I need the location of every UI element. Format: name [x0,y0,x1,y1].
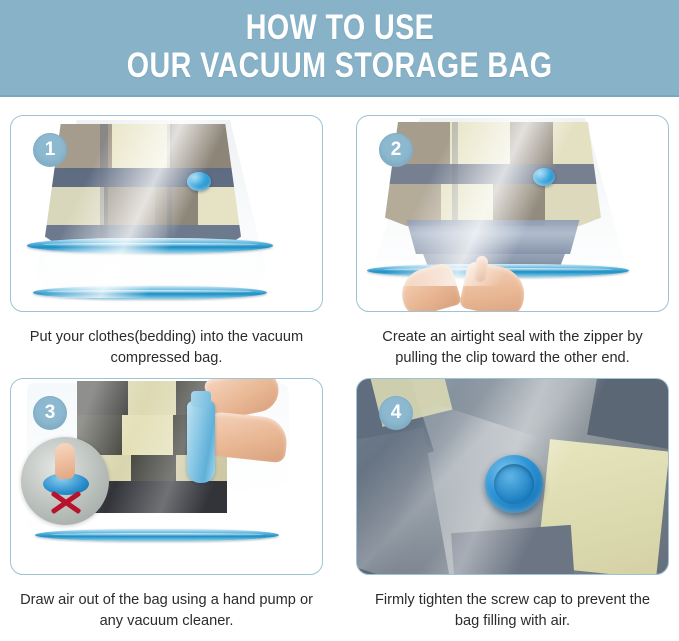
zipper-seal-lower [33,286,267,299]
step-caption-2: Create an airtight seal with the zipper … [356,327,669,368]
pump-nozzle [191,391,211,407]
step-caption-4: Firmly tighten the screw cap to prevent … [356,590,669,631]
step-panel-3: 3 [10,378,323,575]
air-valve-cap [533,168,555,186]
do-not-press-valve-inset [21,437,109,525]
step-cell-1: 1 [10,115,323,378]
step-panel-2: 2 [356,115,669,312]
page-title-line-1: HOW TO USE [245,10,434,47]
folded-fabric-layer-2 [409,244,579,266]
step-cell-4: 4 Firmly tighten the screw cap to preven… [356,378,669,641]
steps-grid: 1 [0,97,679,641]
zipper-seal-upper [27,238,273,253]
page-header: HOW TO USE OUR VACUUM STORAGE BAG [0,0,679,97]
plaid-bedding [385,122,601,226]
step-panel-1: 1 [10,115,323,312]
red-x-warning-icon [49,487,83,517]
step-panel-4: 4 [356,378,669,575]
fabric-patch-gray-bottom [451,525,575,574]
hand-pump [187,401,215,483]
air-valve-cap [187,172,211,191]
step-badge-3: 3 [33,396,67,430]
page-title-line-2: OUR VACUUM STORAGE BAG [127,48,553,85]
blue-screw-cap [485,455,543,513]
step-cell-3: 3 [10,378,323,641]
step-badge-4: 4 [379,396,413,430]
step-caption-1: Put your clothes(bedding) into the vacuu… [10,327,323,368]
step-badge-2: 2 [379,133,413,167]
inset-finger [55,443,75,479]
step-caption-3: Draw air out of the bag using a hand pum… [10,590,323,631]
step-cell-2: 2 [356,115,669,378]
plaid-bedding [45,124,241,252]
step-badge-1: 1 [33,133,67,167]
zipper-seal [35,529,279,541]
